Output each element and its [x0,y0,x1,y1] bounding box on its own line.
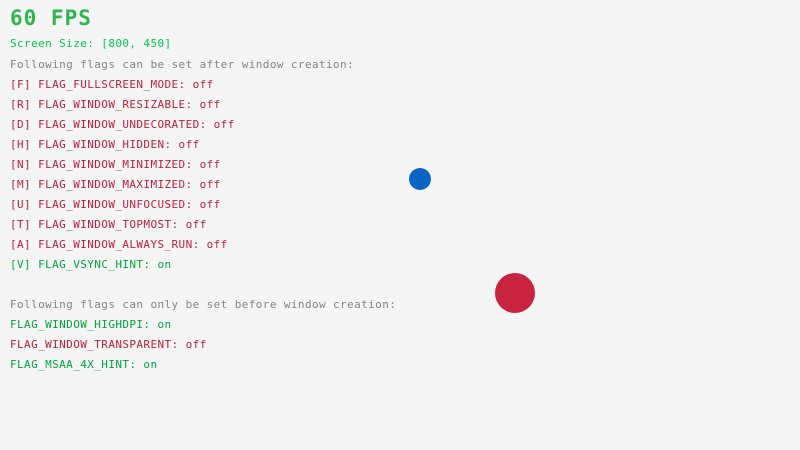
blue-ball [409,168,431,190]
flag-window-unfocused[interactable]: [U] FLAG_WINDOW_UNFOCUSED: off [10,198,221,211]
before-creation-note: Following flags can only be set before w… [10,298,396,311]
red-ball [495,273,535,313]
flag-window-resizable[interactable]: [R] FLAG_WINDOW_RESIZABLE: off [10,98,221,111]
flag-fullscreen-mode[interactable]: [F] FLAG_FULLSCREEN_MODE: off [10,78,214,91]
flag-window-hidden[interactable]: [H] FLAG_WINDOW_HIDDEN: off [10,138,200,151]
flag-vsync-hint[interactable]: [V] FLAG_VSYNC_HINT: on [10,258,172,271]
flag-window-maximized[interactable]: [M] FLAG_WINDOW_MAXIMIZED: off [10,178,221,191]
flag-window-minimized[interactable]: [N] FLAG_WINDOW_MINIMIZED: off [10,158,221,171]
flag-window-undecorated[interactable]: [D] FLAG_WINDOW_UNDECORATED: off [10,118,235,131]
flag-msaa-4x-hint: FLAG_MSAA_4X_HINT: on [10,358,157,371]
flag-window-highdpi: FLAG_WINDOW_HIGHDPI: on [10,318,172,331]
flag-window-transparent: FLAG_WINDOW_TRANSPARENT: off [10,338,207,351]
app-window: 60 FPS Screen Size: [800, 450] Following… [0,0,800,450]
flag-window-always-run[interactable]: [A] FLAG_WINDOW_ALWAYS_RUN: off [10,238,228,251]
after-creation-note: Following flags can be set after window … [10,58,354,71]
flag-window-topmost[interactable]: [T] FLAG_WINDOW_TOPMOST: off [10,218,207,231]
fps-counter: 60 FPS [10,6,92,30]
screen-size-label: Screen Size: [800, 450] [10,37,172,50]
